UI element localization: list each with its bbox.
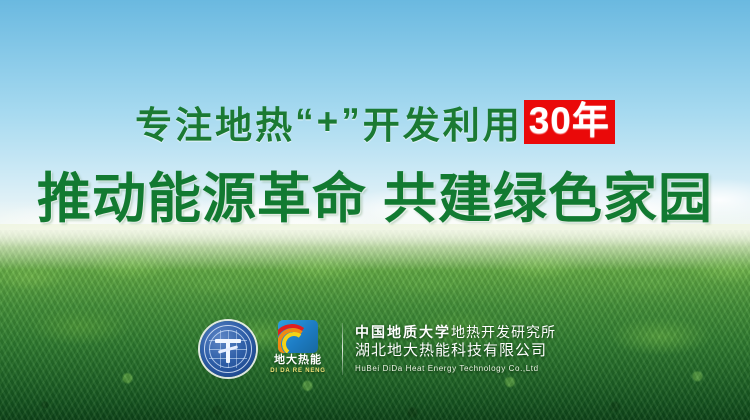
quote-close-glyph: ” bbox=[341, 101, 363, 143]
institute-name: 地热开发研究所 bbox=[451, 324, 556, 340]
headline-primary-part-a: 专注地热 bbox=[135, 95, 295, 149]
university-seal-icon bbox=[200, 321, 256, 377]
brand-pinyin: DI DA RE NENG bbox=[270, 368, 326, 374]
footer-divider bbox=[342, 323, 343, 375]
plus-glyph: + bbox=[317, 101, 342, 143]
university-name: 中国地质大学 bbox=[355, 324, 451, 340]
organization-line-1: 中国地质大学地热开发研究所 bbox=[355, 324, 556, 342]
company-name-english: HuBei DiDa Heat Energy Technology Co.,Lt… bbox=[355, 363, 556, 374]
rainbow-square-icon bbox=[278, 320, 318, 353]
company-name: 湖北地大热能科技有限公司 bbox=[355, 341, 556, 361]
seal-longitude-line bbox=[236, 330, 237, 368]
headline-primary-part-b: 开发利用 bbox=[363, 95, 523, 149]
headline-secondary: 推动能源革命 共建绿色家园 bbox=[0, 160, 750, 226]
seal-hammer-icon bbox=[226, 339, 230, 363]
promotional-banner: 专注地热 “ + ” 开发利用 30年 推动能源革命 共建绿色家园 地大热 bbox=[0, 0, 750, 420]
anniversary-badge: 30年 bbox=[524, 100, 615, 144]
brand-name: 地大热能 bbox=[274, 355, 322, 366]
headline-primary: 专注地热 “ + ” 开发利用 30年 bbox=[0, 98, 750, 146]
brand-logo: 地大热能 DI DA RE NENG bbox=[262, 320, 334, 378]
footer-brand-bar: 地大热能 DI DA RE NENG 中国地质大学地热开发研究所 湖北地大热能科… bbox=[200, 316, 560, 382]
quote-open-glyph: “ bbox=[295, 101, 317, 143]
organization-text-block: 中国地质大学地热开发研究所 湖北地大热能科技有限公司 HuBei DiDa He… bbox=[355, 324, 556, 374]
